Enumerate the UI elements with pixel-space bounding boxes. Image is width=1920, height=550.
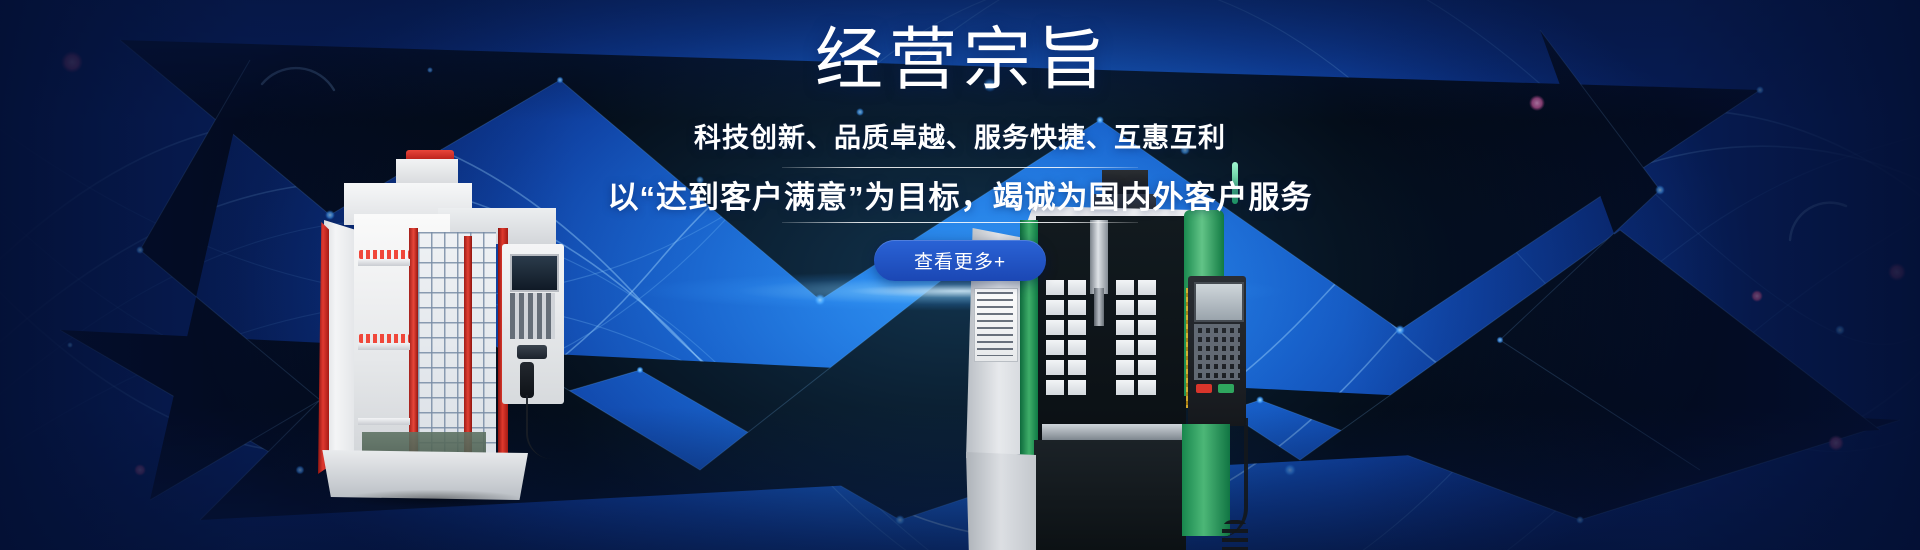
divider-bottom: [782, 222, 1138, 223]
subtitle-line-2: 以“达到客户满意”为目标，竭诚为国内外客户服务: [0, 179, 1920, 216]
hero-banner: 经营宗旨 科技创新、品质卓越、服务快捷、互惠互利 以“达到客户满意”为目标，竭诚…: [0, 0, 1920, 550]
divider-top: [782, 167, 1138, 168]
page-title: 经营宗旨: [0, 26, 1920, 94]
subtitle-line-1: 科技创新、品质卓越、服务快捷、互惠互利: [0, 122, 1920, 154]
view-more-button[interactable]: 查看更多+: [874, 240, 1046, 281]
hero-text-block: 经营宗旨 科技创新、品质卓越、服务快捷、互惠互利 以“达到客户满意”为目标，竭诚…: [0, 0, 1920, 300]
